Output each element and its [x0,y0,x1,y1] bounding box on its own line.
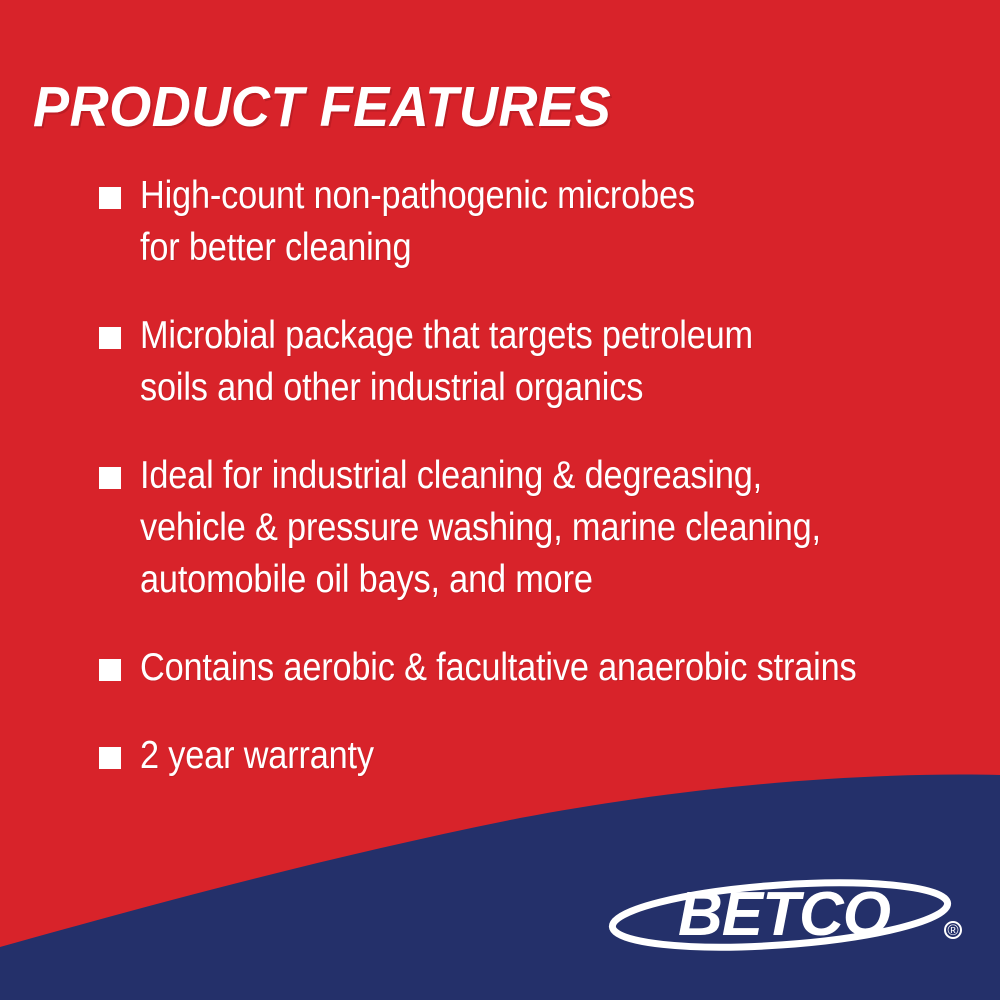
registered-trademark-icon: ® [945,922,961,939]
page-title: PRODUCT FEATURES [33,76,611,138]
feature-text: Microbial package that targets petroleum… [140,310,896,414]
feature-text: 2 year warranty [140,730,896,782]
betco-logo: BETCO ® [608,872,968,958]
feature-list: High-count non-pathogenic microbes for b… [99,170,999,782]
feature-text: High-count non-pathogenic microbes for b… [140,170,896,274]
list-item: Contains aerobic & facultative anaerobic… [99,642,999,694]
square-bullet-icon [99,467,121,489]
list-item: High-count non-pathogenic microbes for b… [99,170,999,274]
list-item: 2 year warranty [99,730,999,782]
list-item: Microbial package that targets petroleum… [99,310,999,414]
logo-wordmark: BETCO [678,880,891,949]
feature-text: Ideal for industrial cleaning & degreasi… [140,450,896,606]
square-bullet-icon [99,327,121,349]
feature-text: Contains aerobic & facultative anaerobic… [140,642,896,694]
product-features-poster: PRODUCT FEATURES High-count non-pathogen… [0,0,1000,1000]
square-bullet-icon [99,747,121,769]
square-bullet-icon [99,659,121,681]
registered-mark-glyph: ® [947,922,958,939]
square-bullet-icon [99,187,121,209]
list-item: Ideal for industrial cleaning & degreasi… [99,450,999,606]
